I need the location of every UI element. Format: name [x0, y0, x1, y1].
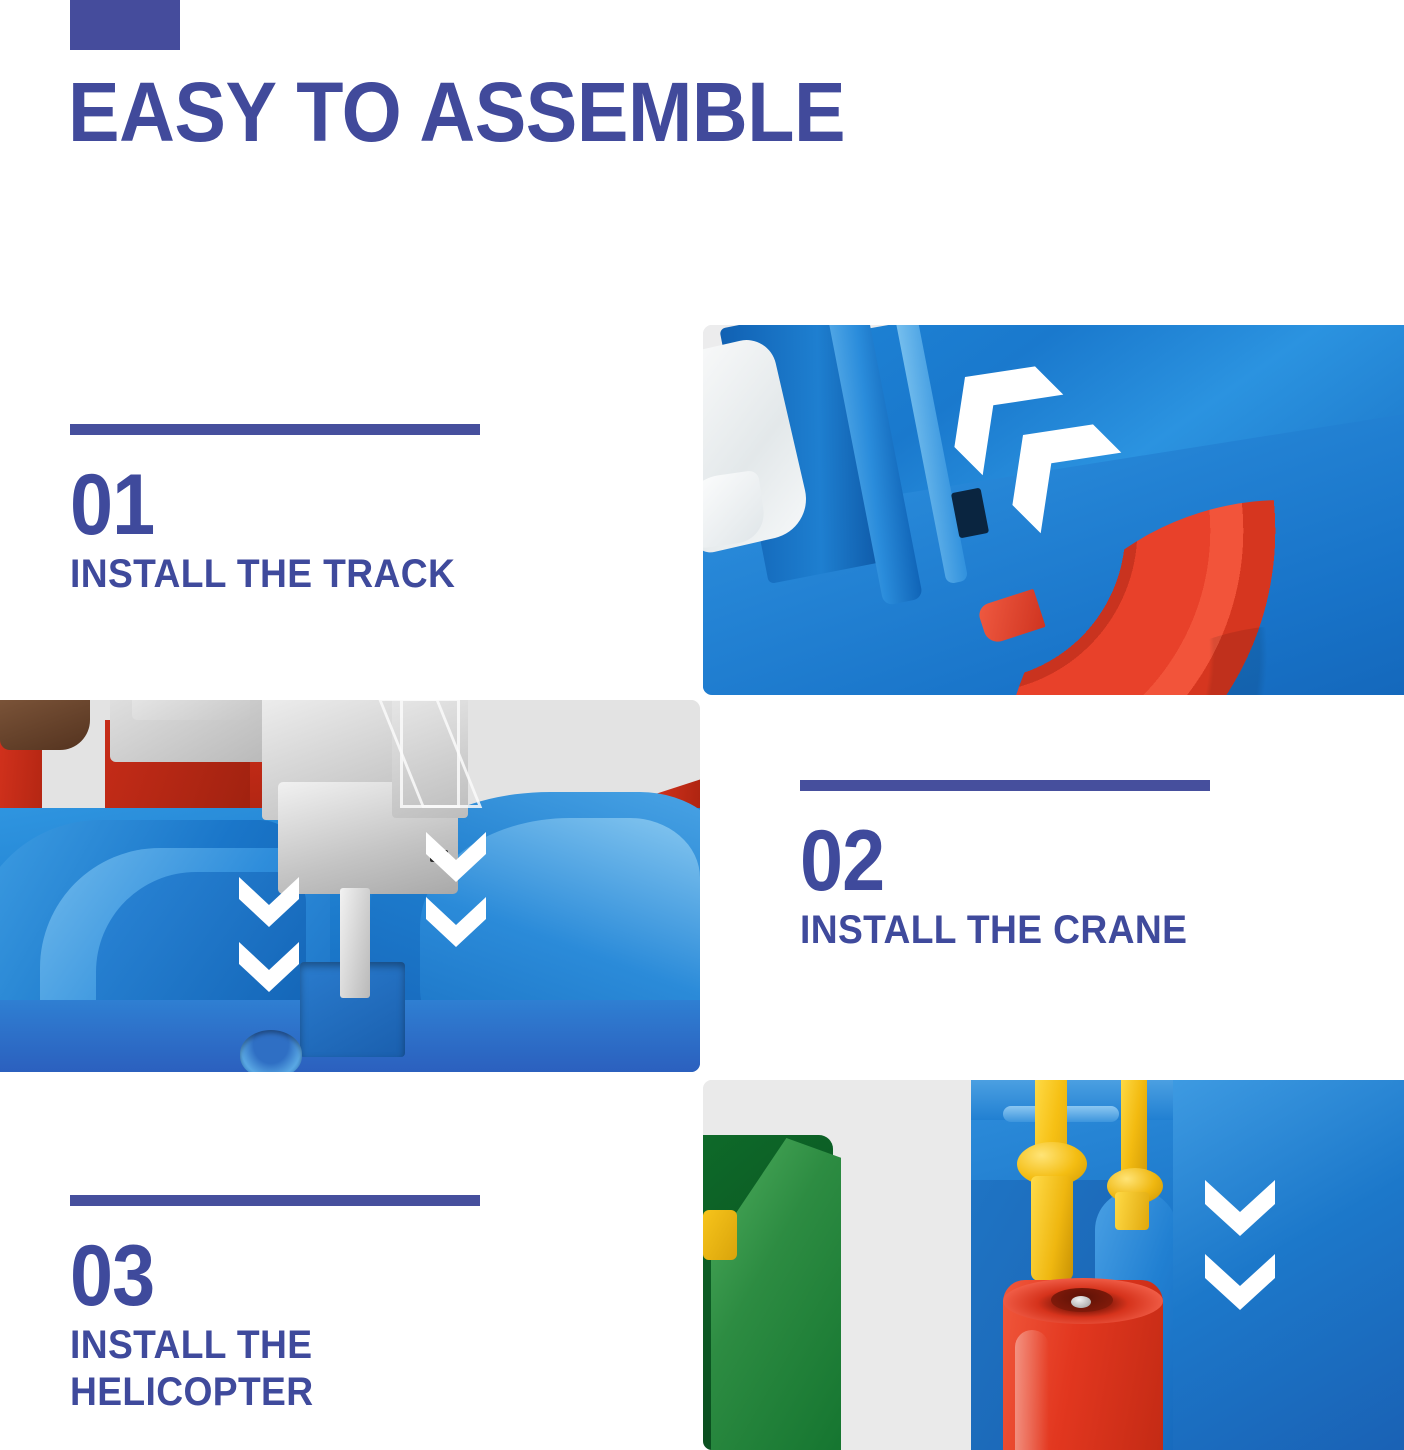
- step-label: INSTALL THE CRANE: [800, 907, 1187, 954]
- step-photo-install-crane: [0, 700, 700, 1072]
- metal-screw: [1071, 1296, 1091, 1308]
- step-photo-install-track: [703, 325, 1404, 695]
- chevron-down-icon: [424, 830, 488, 882]
- step-number: 01: [70, 461, 443, 549]
- step-block-03: 03 INSTALL THE HELICOPTER: [70, 1195, 480, 1416]
- page-title: EASY TO ASSEMBLE: [68, 70, 845, 154]
- step-block-02: 02 INSTALL THE CRANE: [800, 780, 1216, 954]
- header-accent-square: [70, 0, 180, 50]
- round-peg-socket: [240, 1030, 302, 1072]
- step-label: INSTALL THE TRACK: [70, 551, 455, 598]
- step-number: 02: [800, 817, 1175, 905]
- crane-mounting-post: [340, 888, 370, 998]
- hand-holding-part: [0, 700, 90, 750]
- chevron-down-icon: [237, 940, 301, 992]
- chevron-down-icon: [424, 895, 488, 947]
- step-divider-bar: [70, 1195, 480, 1206]
- step-number: 03: [70, 1232, 439, 1320]
- step-divider-bar: [70, 424, 480, 435]
- chevron-down-icon: [1203, 1252, 1277, 1310]
- step-label: INSTALL THE HELICOPTER: [70, 1322, 451, 1416]
- crane-lattice-tower: [392, 700, 468, 818]
- crane-cabin-top: [132, 700, 250, 720]
- step-photo-install-helicopter: [703, 1080, 1404, 1450]
- infographic-canvas: EASY TO ASSEMBLE 01 INSTALL THE TRACK 02…: [0, 0, 1404, 1450]
- yellow-rotor-shaft-rear: [1115, 1192, 1149, 1230]
- chevron-down-icon: [1203, 1178, 1277, 1236]
- yellow-rotor-shaft-front: [1031, 1176, 1073, 1281]
- step-block-01: 01 INSTALL THE TRACK: [70, 424, 484, 598]
- step-divider-bar: [800, 780, 1210, 791]
- chevron-down-icon: [237, 875, 301, 927]
- yellow-part-peek: [703, 1210, 737, 1260]
